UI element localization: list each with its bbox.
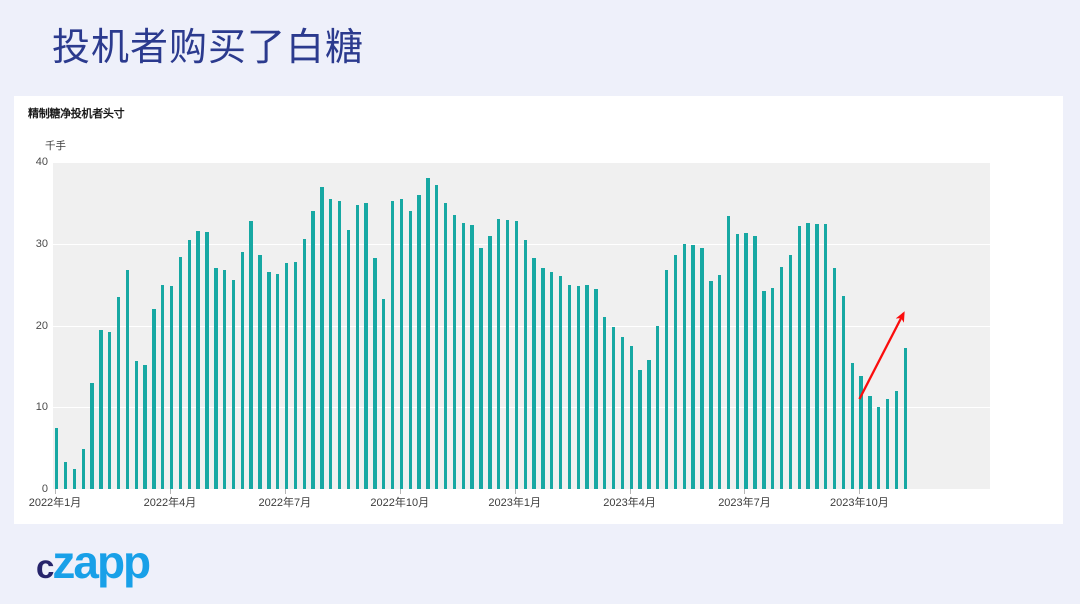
bar <box>709 281 712 489</box>
bar <box>806 223 809 489</box>
bar <box>727 216 730 489</box>
bar <box>179 257 182 489</box>
bar <box>161 285 164 489</box>
bar <box>285 263 288 489</box>
bar <box>656 326 659 490</box>
bar <box>577 286 580 489</box>
bar <box>612 327 615 489</box>
bar <box>453 215 456 489</box>
x-axis-tick-label: 2022年7月 <box>259 494 312 510</box>
logo-text-zapp: zapp <box>52 536 149 588</box>
y-axis-tick-label: 10 <box>22 401 48 413</box>
x-axis-tick-label: 2023年10月 <box>830 494 889 510</box>
bar <box>276 274 279 489</box>
bar <box>497 219 500 489</box>
bar <box>585 285 588 489</box>
bar <box>364 203 367 489</box>
bar <box>868 396 871 489</box>
bar <box>479 248 482 489</box>
chart-title: 精制糖净投机者头寸 <box>28 105 124 121</box>
bar <box>382 299 385 489</box>
bar <box>886 399 889 489</box>
bar <box>143 365 146 489</box>
bar <box>126 270 129 489</box>
bar <box>638 370 641 489</box>
bar <box>780 267 783 489</box>
bar <box>594 289 597 489</box>
bar <box>904 348 907 489</box>
bar <box>824 224 827 489</box>
x-axis-tick-label: 2022年4月 <box>144 494 197 510</box>
y-axis-tick-label: 30 <box>22 238 48 250</box>
bar <box>771 288 774 489</box>
bar <box>249 221 252 489</box>
y-axis-unit-label: 千手 <box>45 138 66 153</box>
bar <box>329 199 332 489</box>
bar <box>117 297 120 489</box>
bar <box>647 360 650 489</box>
bar <box>241 252 244 489</box>
plot-area <box>53 162 990 489</box>
bar <box>665 270 668 489</box>
bar <box>347 230 350 489</box>
bar <box>559 276 562 489</box>
x-axis-tick-label: 2022年1月 <box>29 494 82 510</box>
czapp-logo: czapp <box>36 534 149 595</box>
bar <box>232 280 235 489</box>
bar <box>373 258 376 489</box>
bar <box>294 262 297 489</box>
y-axis-tick-label: 20 <box>22 320 48 332</box>
bar <box>55 428 58 489</box>
bar <box>877 407 880 489</box>
bar <box>409 211 412 489</box>
bar <box>488 236 491 489</box>
bar <box>798 226 801 489</box>
bar <box>108 332 111 489</box>
x-axis-labels: 2022年1月2022年4月2022年7月2022年10月2023年1月2023… <box>53 494 990 512</box>
logo-letter-c: c <box>36 548 52 585</box>
x-axis-tick-label: 2023年1月 <box>488 494 541 510</box>
bar <box>833 268 836 489</box>
x-axis-tick-label: 2023年4月 <box>603 494 656 510</box>
x-axis-tick-label: 2022年10月 <box>370 494 429 510</box>
bar <box>90 383 93 489</box>
bar <box>426 178 429 489</box>
bar <box>550 272 553 489</box>
bar <box>303 239 306 489</box>
bar <box>311 211 314 489</box>
bar <box>744 233 747 489</box>
bar <box>196 231 199 489</box>
bar <box>400 199 403 489</box>
bar <box>674 255 677 489</box>
bar-series <box>53 162 990 489</box>
chart-card: 精制糖净投机者头寸 千手 010203040 2022年1月2022年4月202… <box>14 96 1063 524</box>
bar <box>470 225 473 489</box>
bar <box>338 201 341 489</box>
bar <box>789 255 792 489</box>
bar <box>82 449 85 489</box>
bar <box>603 317 606 489</box>
bar <box>842 296 845 489</box>
bar <box>99 330 102 489</box>
bar <box>568 285 571 489</box>
bar <box>630 346 633 489</box>
bar <box>170 286 173 489</box>
bar <box>435 185 438 489</box>
bar <box>851 363 854 489</box>
bar <box>258 255 261 489</box>
bar <box>205 232 208 489</box>
bar <box>718 275 721 489</box>
bar <box>320 187 323 489</box>
bar <box>417 195 420 489</box>
bar <box>135 361 138 489</box>
bar <box>532 258 535 489</box>
bar <box>753 236 756 489</box>
y-axis-tick-label: 40 <box>22 156 48 168</box>
bar <box>815 224 818 489</box>
bar <box>895 391 898 489</box>
bar <box>356 205 359 489</box>
bar <box>683 244 686 489</box>
bar <box>515 221 518 489</box>
bar <box>621 337 624 489</box>
bar <box>506 220 509 489</box>
bar <box>152 309 155 489</box>
bar <box>691 245 694 489</box>
page-title: 投机者购买了白糖 <box>52 24 364 72</box>
bar <box>73 469 76 489</box>
bar <box>736 234 739 489</box>
bar <box>267 272 270 489</box>
bar <box>462 223 465 489</box>
bar <box>64 462 67 489</box>
bar <box>700 248 703 489</box>
bar <box>223 270 226 489</box>
x-axis-tick-label: 2023年7月 <box>718 494 771 510</box>
bar <box>859 376 862 489</box>
bar <box>214 268 217 489</box>
bar <box>188 240 191 489</box>
bar <box>762 291 765 489</box>
bar <box>524 240 527 489</box>
y-axis-ticks: 010203040 <box>20 162 48 489</box>
bar <box>541 268 544 489</box>
bar <box>391 201 394 489</box>
bar <box>444 203 447 489</box>
